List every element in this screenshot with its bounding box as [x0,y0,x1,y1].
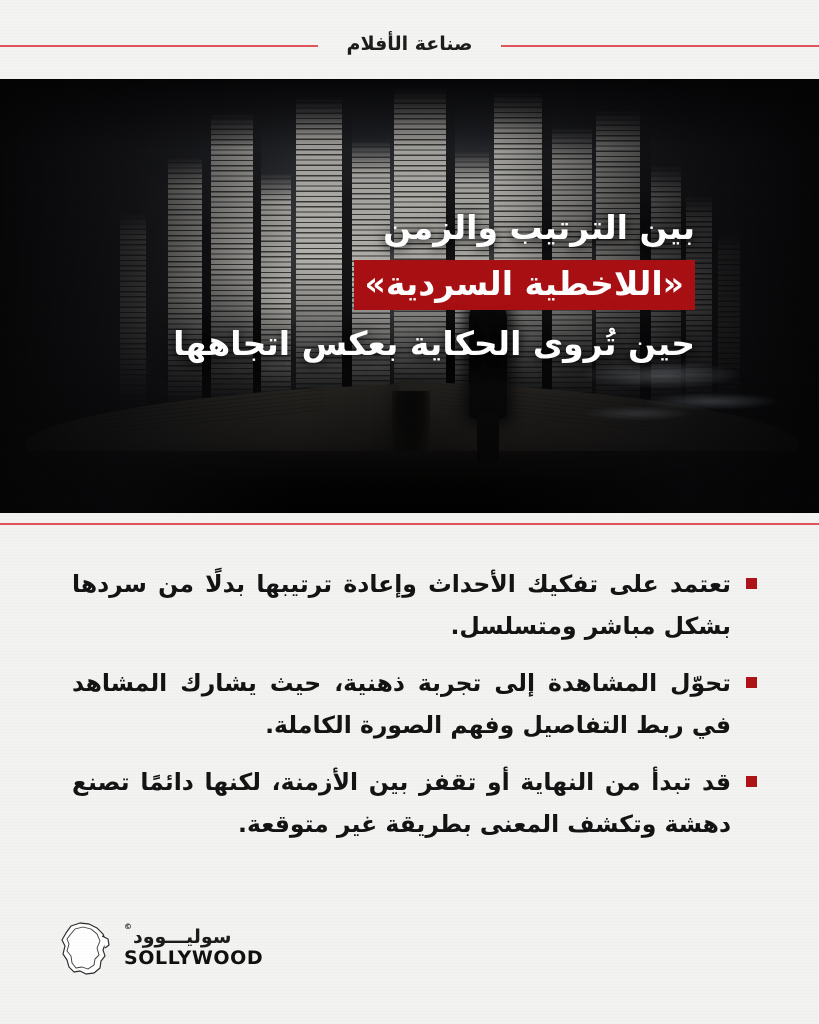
bullet-square-icon [746,776,757,787]
brand-logo-arabic-text: سوليـــوود [133,926,231,948]
page-header: صناعة الأفلام [0,0,819,79]
brand-logo: سوليـــوود© SOLLYWOOD [56,916,316,980]
hero-headline-highlight: «اللاخطية السردية» [354,260,695,310]
hero-headline-line-2: حين تُروى الحكاية بعكس اتجاهها [95,319,695,368]
list-item: تعتمد على تفكيك الأحداث وإعادة ترتيبها ب… [72,563,757,647]
hero-divider-rule [0,523,819,525]
bullet-text: تعتمد على تفكيك الأحداث وإعادة ترتيبها ب… [72,563,731,647]
bullet-text: تحوّل المشاهدة إلى تجربة ذهنية، حيث يشار… [72,662,731,746]
hero-headline-highlight-wrapper: «اللاخطية السردية» [95,252,695,319]
hero-vignette-top [0,79,819,149]
hero-banner: بين الترتيب والزمن «اللاخطية السردية» حي… [0,79,819,513]
brand-logo-arabic: سوليـــوود© [124,928,231,947]
bullet-text: قد تبدأ من النهاية أو تقفز بين الأزمنة، … [72,761,731,845]
bullet-square-icon [746,677,757,688]
brand-logo-latin: SOLLYWOOD [124,949,263,968]
hero-headline-group: بين الترتيب والزمن «اللاخطية السردية» حي… [95,203,695,368]
header-title: صناعة الأفلام [0,27,819,61]
list-item: قد تبدأ من النهاية أو تقفز بين الأزمنة، … [72,761,757,845]
saudi-map-outline-icon [56,917,114,979]
brand-logo-wordmark: سوليـــوود© SOLLYWOOD [124,928,263,968]
bullet-list: تعتمد على تفكيك الأحداث وإعادة ترتيبها ب… [0,563,819,860]
bullet-square-icon [746,578,757,589]
list-item: تحوّل المشاهدة إلى تجربة ذهنية، حيث يشار… [72,662,757,746]
hero-headline-line-1: بين الترتيب والزمن [95,203,695,252]
copyright-icon: © [124,922,132,931]
